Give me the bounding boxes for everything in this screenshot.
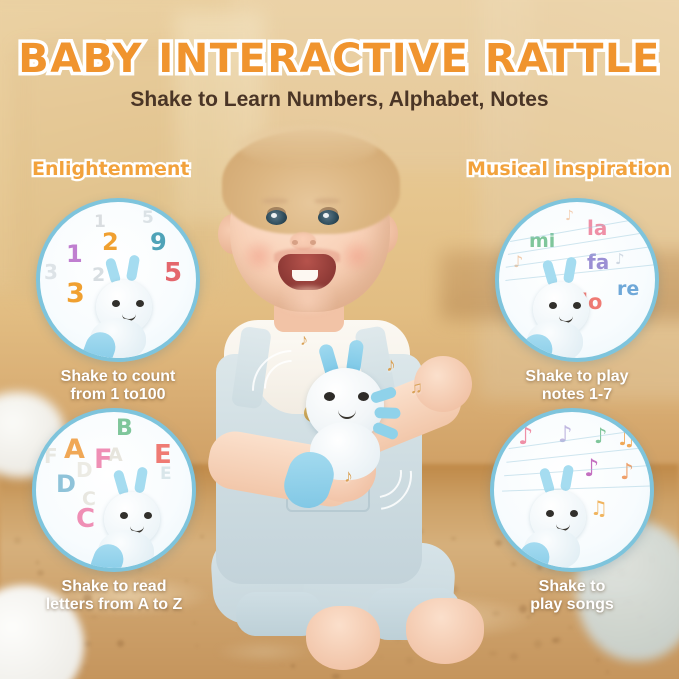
feature-caption-line: letters from A to Z <box>8 596 220 614</box>
page-title: BABY INTERACTIVE RATTLE <box>0 36 679 82</box>
toy-eye <box>120 512 128 519</box>
feature-circle: CCDEDEAFFAB <box>32 408 196 572</box>
mini-toy-illustration <box>88 468 180 560</box>
toy-eye <box>358 392 369 401</box>
feature-badge-notes: ♪♪♪dorefalami Shake to play notes 1-7 <box>495 198 659 362</box>
page-subtitle: Shake to Learn Numbers, Alphabet, Notes <box>0 88 679 112</box>
baby-eye <box>318 210 339 225</box>
toy-eye <box>324 392 335 401</box>
toy-ear <box>560 464 574 491</box>
section-label-musical-inspiration: Musical inspiration <box>467 158 670 180</box>
feature-caption: Shake to play songs <box>466 578 678 614</box>
feature-caption-line: play songs <box>466 596 678 614</box>
feature-glyph: la <box>587 216 607 240</box>
feature-badge-letters: CCDEDEAFFAB Shake to read letters from A… <box>32 408 196 572</box>
baby-eyebrow <box>262 198 288 204</box>
music-staff-line <box>510 215 658 242</box>
feature-badge-count: 323519251 Shake to count from 1 to100 <box>36 198 200 362</box>
feature-caption: Shake to count from 1 to100 <box>12 368 224 404</box>
feature-glyph: E <box>154 440 172 470</box>
feature-glyph: 1 <box>94 212 106 232</box>
feature-glyph: ♪ <box>558 422 573 448</box>
mini-toy-illustration <box>514 466 606 558</box>
feature-glyph: D <box>56 470 76 498</box>
feature-glyph: ♪ <box>565 208 574 224</box>
feature-glyph: ♪ <box>615 250 625 268</box>
baby-cheek <box>336 240 378 272</box>
baby-mouth <box>278 254 336 290</box>
toy-eye <box>549 302 557 309</box>
feature-caption: Shake to read letters from A to Z <box>8 578 220 614</box>
music-note-icon: ♫ <box>410 378 423 398</box>
feature-circle: ♫♪♪♫♪♪♪ <box>490 408 654 572</box>
feature-glyph: ♪ <box>620 460 634 485</box>
feature-glyph: A <box>64 434 85 465</box>
toy-ear <box>134 466 148 493</box>
feature-glyph: 2 <box>102 228 119 256</box>
feature-caption-line: Shake to count <box>12 368 224 386</box>
baby-eye <box>266 210 287 225</box>
toy-spike <box>374 407 400 419</box>
feature-caption-line: Shake to <box>466 578 678 596</box>
baby-nostril <box>310 240 316 245</box>
section-label-enlightenment: Enlightenment <box>32 158 189 180</box>
feature-caption-line: notes 1-7 <box>471 386 679 404</box>
baby-hair <box>238 126 378 166</box>
baby-nostril <box>292 240 298 245</box>
toy-eye <box>570 510 578 517</box>
feature-circle: 323519251 <box>36 198 200 362</box>
toy-eye <box>112 300 120 307</box>
feature-caption-line: Shake to read <box>8 578 220 596</box>
bunny-rattle-toy: ♪ ♫ ♪ ♪ <box>282 348 432 508</box>
toy-ear <box>563 256 577 283</box>
mini-toy-illustration <box>517 258 609 350</box>
feature-caption: Shake to play notes 1-7 <box>471 368 679 404</box>
toy-eye <box>144 512 152 519</box>
feature-glyph: B <box>116 416 133 441</box>
music-note-icon: ♪ <box>300 332 308 350</box>
music-note-icon: ♪ <box>344 466 353 487</box>
mini-toy-illustration <box>80 256 172 348</box>
feature-glyph: 3 <box>44 260 58 284</box>
feature-glyph: 9 <box>150 228 167 256</box>
feature-badge-songs: ♫♪♪♫♪♪♪ Shake to play songs <box>490 408 654 572</box>
music-note-icon: ♪ <box>386 354 396 377</box>
toy-eye <box>546 510 554 517</box>
toy-eye <box>136 300 144 307</box>
feature-glyph: re <box>617 278 639 300</box>
baby-chin <box>270 286 346 314</box>
toy-ear <box>126 254 140 281</box>
feature-glyph: F <box>44 444 58 468</box>
feature-caption-line: from 1 to100 <box>12 386 224 404</box>
toy-eye <box>573 302 581 309</box>
feature-caption-line: Shake to play <box>471 368 679 386</box>
baby-foot <box>306 606 380 670</box>
baby-eyebrow <box>314 198 340 204</box>
feature-glyph: 5 <box>142 208 154 228</box>
feature-circle: ♪♪♪dorefalami <box>495 198 659 362</box>
baby-teeth <box>292 270 318 281</box>
